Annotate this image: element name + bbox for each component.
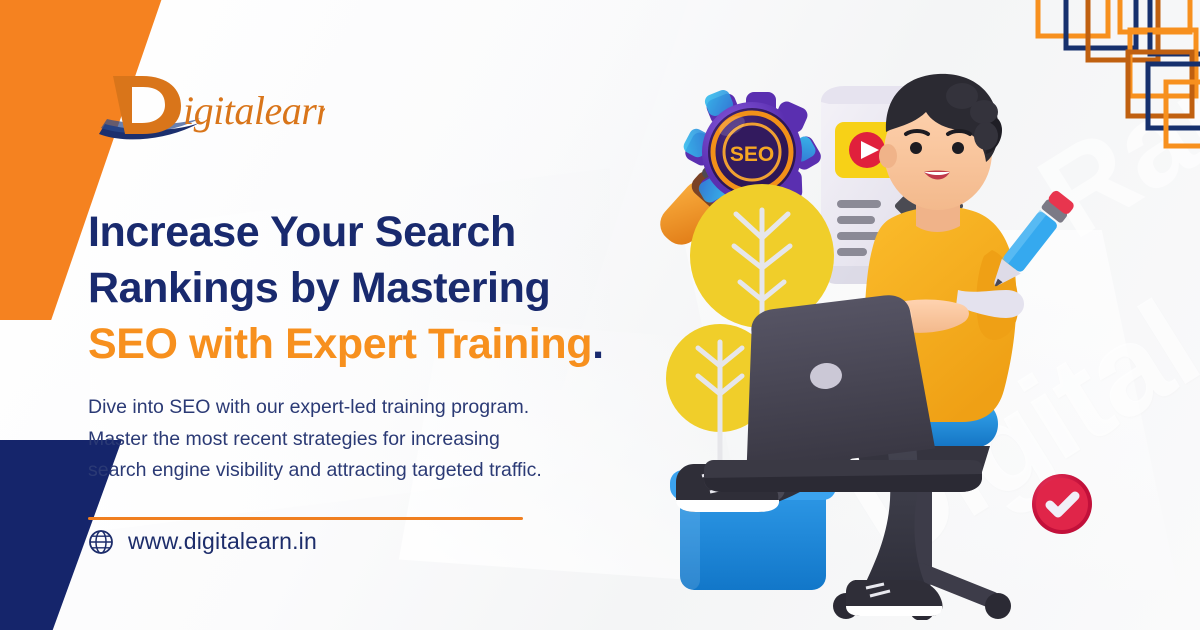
orange-divider [88,517,523,520]
seo-magnifier-label: SEO [730,143,774,166]
website-url[interactable]: www.digitalearn.in [128,528,317,555]
description-line-2: Master the most recent strategies for in… [88,428,500,450]
description-text: Dive into SEO with our expert-led traini… [88,392,698,487]
svg-text:igitalearn: igitalearn [183,88,325,133]
headline-period: . [592,320,604,368]
seo-illustration: SEO [640,60,1120,620]
headline-line-2: Rankings by Mastering [88,264,550,312]
website-url-row[interactable]: www.digitalearn.in [88,528,317,555]
headline-line-1: Increase Your Search [88,208,516,256]
description-line-3: search engine visibility and attracting … [88,459,542,481]
digitalearn-logo[interactable]: igitalearn [95,68,325,146]
description-line-1: Dive into SEO with our expert-led traini… [88,396,529,418]
globe-icon [88,529,114,555]
check-badge-icon [1032,474,1092,534]
seo-training-banner: Digital Rank [0,0,1200,630]
headline-line-3-accent: SEO with Expert Training [88,320,592,368]
page-title: Increase Your Search Rankings by Masteri… [88,205,688,373]
